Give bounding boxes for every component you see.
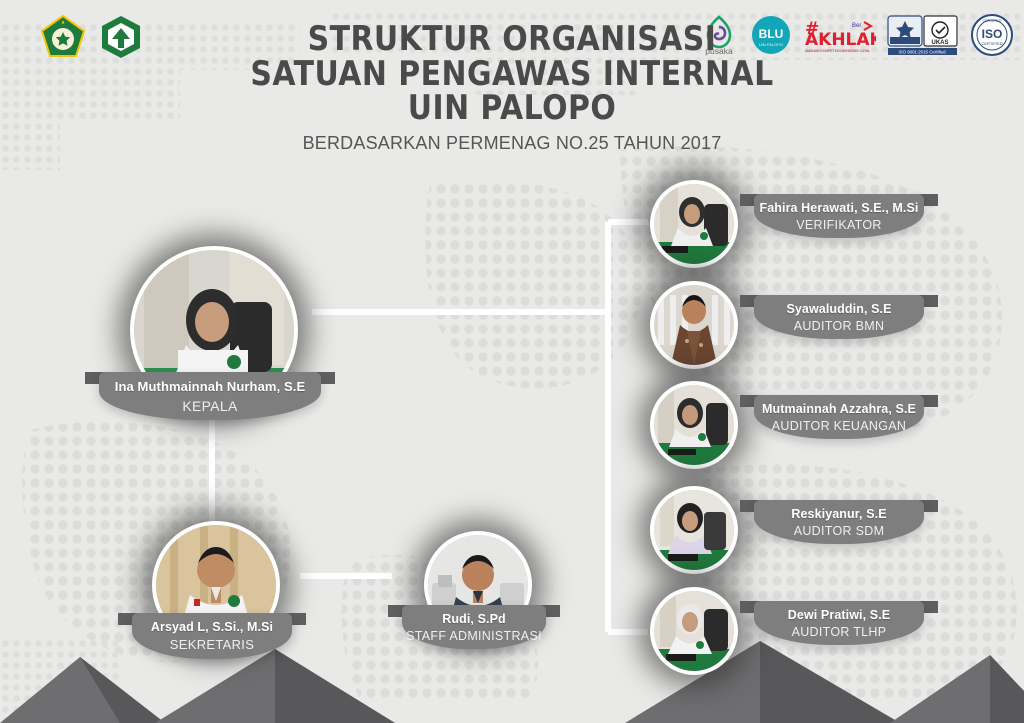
- title-line-1: STRUKTUR ORGANISASI: [61, 22, 962, 57]
- node-sekretaris[interactable]: Arsyad L, S.Si., M.Si SEKRETARIS: [152, 521, 280, 649]
- auditor-tlhp-nameplate: Dewi Pratiwi, S.E AUDITOR TLHP: [740, 601, 938, 645]
- kepala-nameplate: Ina Muthmainnah Nurham, S.E KEPALA: [85, 372, 335, 420]
- auditor-bmn-nameplate: Syawaluddin, S.E AUDITOR BMN: [740, 295, 938, 339]
- auditor-sdm-name: Reskiyanur, S.E: [740, 507, 938, 521]
- sekretaris-nameplate: Arsyad L, S.Si., M.Si SEKRETARIS: [118, 613, 306, 659]
- kepala-role: KEPALA: [85, 398, 335, 414]
- poster-title-block: STRUKTUR ORGANISASI SATUAN PENGAWAS INTE…: [0, 22, 1024, 154]
- node-auditor-sdm[interactable]: Reskiyanur, S.E AUDITOR SDM: [650, 486, 738, 574]
- auditor-keuangan-name: Mutmainnah Azzahra, S.E: [740, 402, 938, 416]
- verifikator-nameplate: Fahira Herawati, S.E., M.Si VERIFIKATOR: [740, 194, 938, 238]
- auditor-tlhp-role: AUDITOR TLHP: [740, 625, 938, 639]
- sekretaris-name: Arsyad L, S.Si., M.Si: [118, 620, 306, 634]
- organization-chart-poster: pusaka BLU UIN PALOPO # AKHLAK Ber AMANA…: [0, 0, 1024, 723]
- auditor-sdm-role: AUDITOR SDM: [740, 524, 938, 538]
- title-line-2: SATUAN PENGAWAS INTERNAL: [61, 57, 962, 92]
- node-auditor-tlhp[interactable]: Dewi Pratiwi, S.E AUDITOR TLHP: [650, 587, 738, 675]
- auditor-keuangan-nameplate: Mutmainnah Azzahra, S.E AUDITOR KEUANGAN: [740, 395, 938, 439]
- auditor-bmn-role: AUDITOR BMN: [740, 319, 938, 333]
- sekretaris-role: SEKRETARIS: [118, 637, 306, 652]
- node-auditor-bmn[interactable]: Syawaluddin, S.E AUDITOR BMN: [650, 281, 738, 369]
- auditor-sdm-photo: [650, 486, 738, 574]
- verifikator-name: Fahira Herawati, S.E., M.Si: [740, 201, 938, 215]
- node-verifikator[interactable]: Fahira Herawati, S.E., M.Si VERIFIKATOR: [650, 180, 738, 268]
- auditor-keuangan-photo: [650, 381, 738, 469]
- auditor-bmn-photo: [650, 281, 738, 369]
- auditor-sdm-nameplate: Reskiyanur, S.E AUDITOR SDM: [740, 500, 938, 544]
- node-kepala[interactable]: Ina Muthmainnah Nurham, S.E KEPALA: [130, 246, 298, 414]
- node-staff-administrasi[interactable]: Rudi, S.Pd STAFF ADMINISTRASI: [424, 531, 532, 639]
- title-line-3: UIN PALOPO: [61, 91, 962, 126]
- node-auditor-keuangan[interactable]: Mutmainnah Azzahra, S.E AUDITOR KEUANGAN: [650, 381, 738, 469]
- auditor-keuangan-role: AUDITOR KEUANGAN: [740, 419, 938, 433]
- auditor-tlhp-name: Dewi Pratiwi, S.E: [740, 608, 938, 622]
- staff-name: Rudi, S.Pd: [388, 612, 560, 626]
- verifikator-role: VERIFIKATOR: [740, 218, 938, 232]
- verifikator-photo: [650, 180, 738, 268]
- staff-role: STAFF ADMINISTRASI: [388, 629, 560, 643]
- kepala-name: Ina Muthmainnah Nurham, S.E: [85, 379, 335, 394]
- staff-nameplate: Rudi, S.Pd STAFF ADMINISTRASI: [388, 605, 560, 649]
- auditor-tlhp-photo: [650, 587, 738, 675]
- auditor-bmn-name: Syawaluddin, S.E: [740, 302, 938, 316]
- poster-subtitle: BERDASARKAN PERMENAG NO.25 TAHUN 2017: [0, 133, 1024, 154]
